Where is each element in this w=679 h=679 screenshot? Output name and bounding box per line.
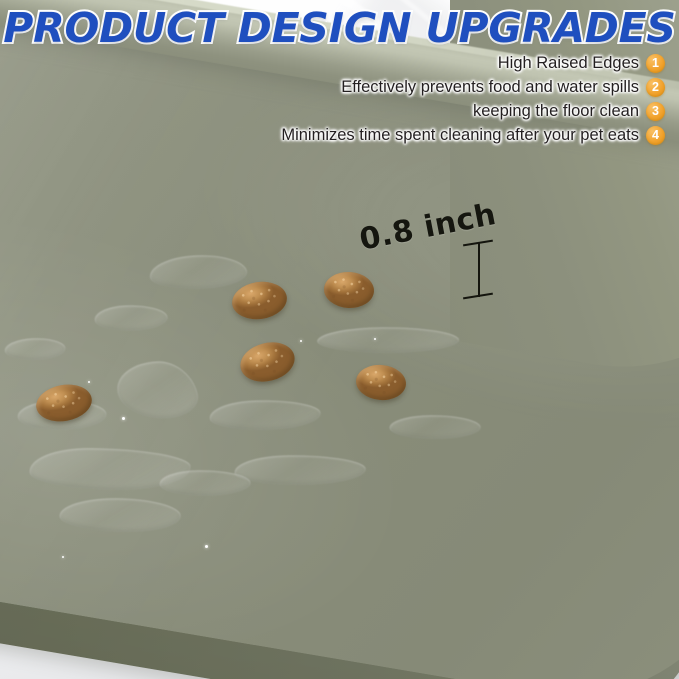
feature-number-badge: 2 xyxy=(646,78,665,97)
feature-item: Minimizes time spent cleaning after your… xyxy=(281,126,665,145)
dimension-line xyxy=(460,240,500,300)
feature-label: Effectively prevents food and water spil… xyxy=(341,78,639,97)
feature-list: High Raised Edges1Effectively prevents f… xyxy=(281,54,665,145)
water-specular-highlight xyxy=(122,417,125,420)
feature-item: High Raised Edges1 xyxy=(498,54,665,73)
page-title: PRODUCT DESIGN UPGRADES xyxy=(0,4,679,52)
feature-label: Minimizes time spent cleaning after your… xyxy=(281,126,639,145)
product-marketing-image: 0.8 inch PRODUCT DESIGN UPGRADES High Ra… xyxy=(0,0,679,679)
water-specular-highlight xyxy=(205,545,208,548)
feature-label: keeping the floor clean xyxy=(473,102,639,121)
feature-label: High Raised Edges xyxy=(498,54,639,73)
water-specular-highlight xyxy=(374,338,376,340)
water-specular-highlight xyxy=(300,340,302,342)
feature-number-badge: 1 xyxy=(646,54,665,73)
dimension-vertical-line xyxy=(478,243,480,297)
feature-item: keeping the floor clean3 xyxy=(473,102,665,121)
feature-item: Effectively prevents food and water spil… xyxy=(341,78,665,97)
water-specular-highlight xyxy=(62,556,64,558)
feature-number-badge: 4 xyxy=(646,126,665,145)
silicone-feeding-mat xyxy=(0,120,679,679)
water-specular-highlight xyxy=(88,381,90,383)
feature-number-badge: 3 xyxy=(646,102,665,121)
